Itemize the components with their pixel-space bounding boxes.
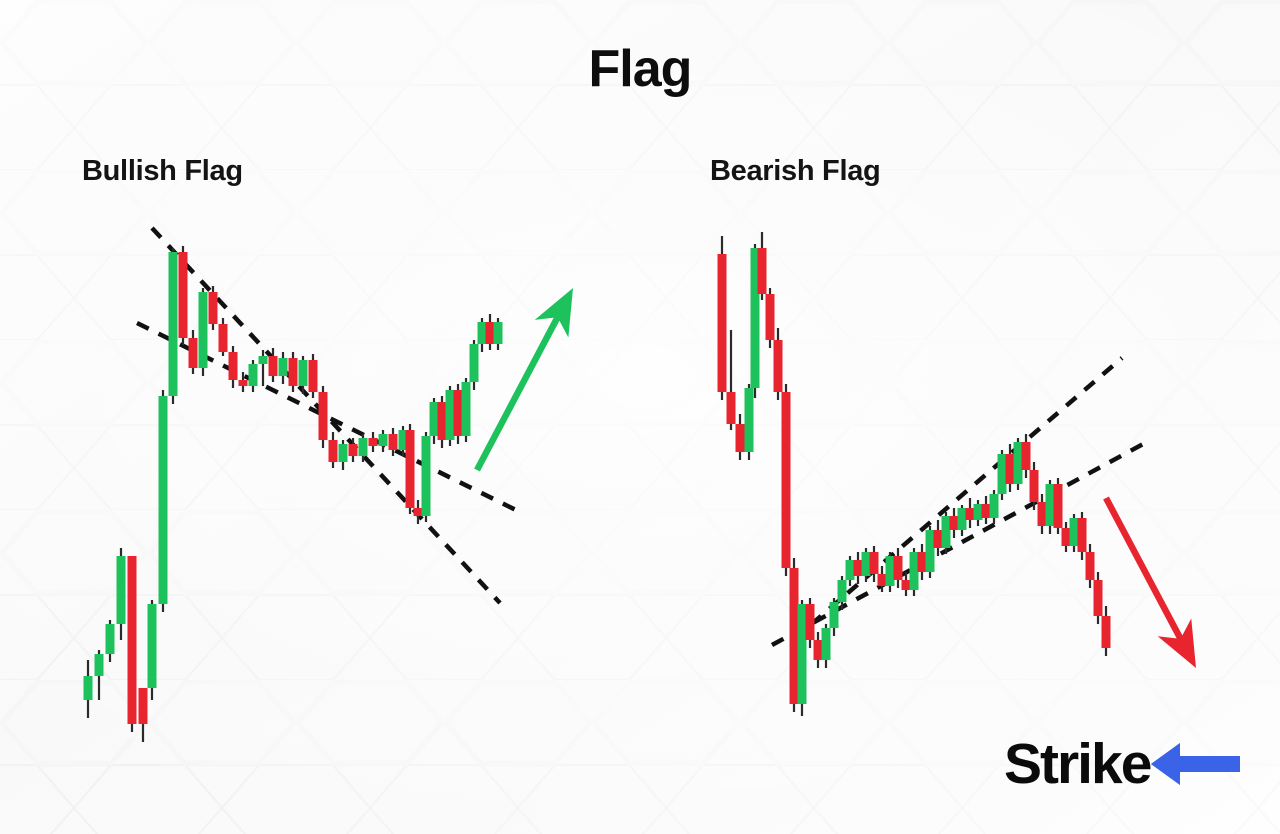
candlestick — [790, 558, 799, 712]
candlestick — [894, 548, 903, 588]
candlestick — [1102, 606, 1111, 656]
candlestick — [1014, 438, 1023, 490]
candlestick — [1062, 522, 1071, 552]
candlestick — [998, 450, 1007, 500]
candlestick — [798, 600, 807, 716]
candlestick — [886, 552, 895, 592]
candlestick — [942, 512, 951, 554]
candlestick — [718, 236, 727, 400]
candlestick — [766, 288, 775, 348]
panel-title-bearish: Bearish Flag — [710, 155, 880, 188]
candlestick — [1086, 544, 1095, 588]
candlestick — [1078, 512, 1087, 560]
candlestick — [1094, 572, 1103, 624]
bearish-flag-chart — [0, 0, 1280, 834]
candlestick — [806, 598, 815, 648]
candlestick — [782, 384, 791, 576]
candlestick — [846, 556, 855, 586]
candlestick — [990, 490, 999, 524]
candlestick — [982, 496, 991, 524]
candlestick — [918, 544, 927, 580]
candlestick — [745, 384, 754, 460]
candlestick — [910, 548, 919, 596]
strike-wordmark: Strike — [1004, 732, 1151, 796]
candlestick — [814, 632, 823, 668]
candlestick — [870, 546, 879, 582]
candlestick — [1054, 478, 1063, 534]
candlestick — [1022, 434, 1031, 478]
panel-title-bullish: Bullish Flag — [82, 155, 243, 188]
page-title: Flag — [0, 39, 1280, 99]
strike-logo: Strike — [1004, 726, 1254, 802]
candlestick — [926, 526, 935, 578]
candlestick — [1038, 494, 1047, 534]
strike-arrow-overlay — [1151, 743, 1202, 785]
candlestick — [966, 498, 975, 528]
candlestick — [934, 520, 943, 556]
candlestick — [854, 552, 863, 584]
breakdown-arrow — [1106, 498, 1196, 668]
candlestick — [1046, 480, 1055, 534]
candlestick — [950, 508, 959, 538]
candlestick — [758, 232, 767, 300]
candlestick — [1070, 514, 1079, 552]
candlestick — [736, 414, 745, 460]
candlestick — [974, 500, 983, 526]
candlestick — [727, 330, 736, 430]
candlestick — [822, 624, 831, 668]
candlestick — [958, 505, 967, 536]
candlestick — [830, 598, 839, 636]
candlestick — [774, 328, 783, 400]
